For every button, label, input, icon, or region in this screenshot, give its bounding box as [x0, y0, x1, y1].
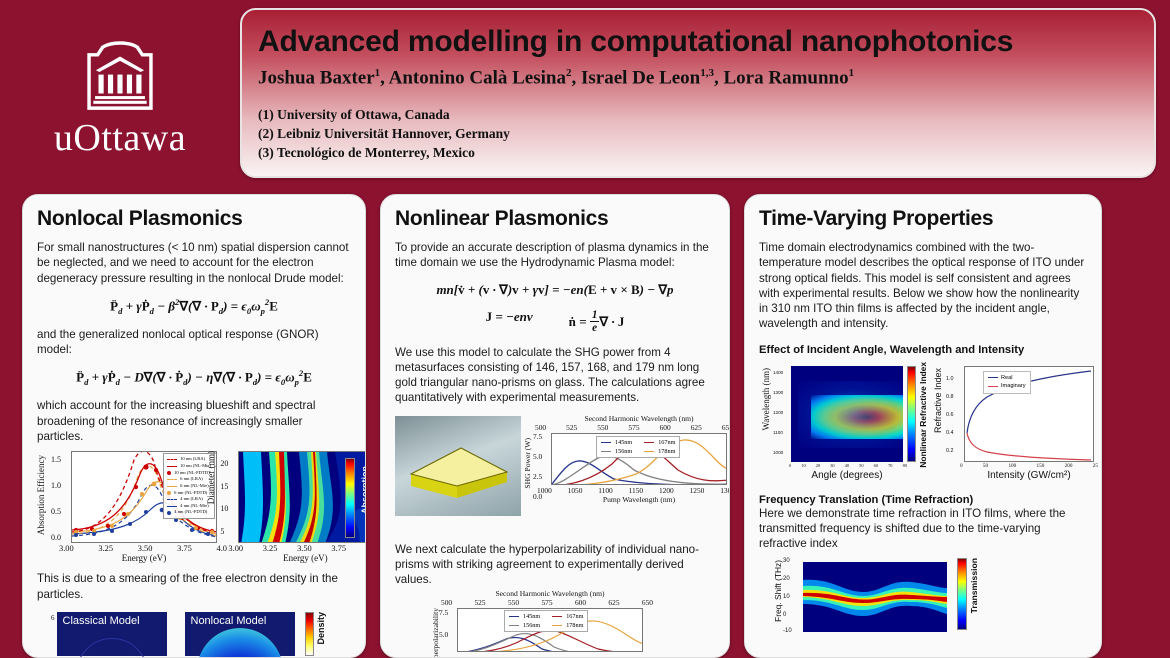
section-nonlinear-plasmonics: Nonlinear Plasmonics To provide an accur…: [380, 194, 730, 658]
xtick: 0: [789, 463, 791, 468]
page-title: Advanced modelling in computational nano…: [258, 26, 1134, 58]
xtick: 3.25: [98, 544, 113, 553]
chart5-xlabel: Angle (degrees): [785, 470, 909, 481]
xtick: 600: [660, 423, 671, 432]
nonlocal-model-label: Nonlocal Model: [191, 615, 267, 627]
xtick: 1150: [629, 486, 644, 495]
chart1-plot-area: 10 nm (LRA) 10 nm (NL-Mie) 10 nm (NL-FDT…: [71, 451, 217, 543]
affiliation-1: (1) University of Ottawa, Canada: [258, 105, 1134, 124]
xtick: 1300: [720, 486, 730, 495]
xtick: 10: [801, 463, 805, 468]
legend-item: Real: [988, 374, 1026, 382]
chart4-top-axis-label: Second Harmonic Wavelength (nm): [455, 589, 645, 598]
chart1-ytick-0.5: 0.5: [51, 507, 61, 516]
legend-item: 6 nm (NL-Mie): [167, 483, 211, 490]
current-continuity-equations: J = −env ṅ = 1e∇ · J: [395, 309, 715, 334]
legend-label: 4 nm (NL-Mie): [180, 503, 209, 510]
chart1-ytick-1.5: 1.5: [51, 455, 61, 464]
chart4-plot-area: 145nm 167nm 156nm 178nm: [457, 608, 643, 652]
author-2: , Antonino Calà Lesina: [380, 67, 566, 88]
col3-title: Time-Varying Properties: [759, 207, 1087, 231]
chart7-colorbar-label: Transmission: [969, 558, 979, 613]
xtick: 3.50: [297, 544, 312, 553]
col3-paragraph-1: Time domain electrodynamics combined wit…: [759, 240, 1087, 332]
xtick: 80: [903, 463, 907, 468]
xtick: 550: [508, 598, 519, 607]
chart7-plot-area: [803, 562, 947, 632]
col1-paragraph-1: For small nanostructures (< 10 nm) spati…: [37, 240, 351, 286]
legend-item: 178nm: [552, 622, 583, 629]
chart3-ytick-7.5: 7.5: [533, 432, 542, 441]
col1-paragraph-2: and the generalized nonlocal optical res…: [37, 327, 351, 358]
xtick: 50: [859, 463, 863, 468]
figure-ito-nonlinearity: Wavelength (nm) 1400 1300 1200 1100 1000…: [759, 362, 1087, 492]
legend-item: 4 nm (NL-FDTD): [167, 509, 211, 516]
affiliation-list: (1) University of Ottawa, Canada (2) Lei…: [258, 105, 1134, 162]
xtick: 40: [845, 463, 849, 468]
chart4-ytick-5.0: 5.0: [439, 630, 448, 639]
chart1-xlabel: Energy (eV): [71, 553, 217, 563]
chart2-xticks: 3.00 3.25 3.50 3.75 4.00: [228, 544, 366, 553]
chart5-plot-area: [791, 366, 903, 462]
chart-nonlinear-index-heatmap: Wavelength (nm) 1400 1300 1200 1100 1000…: [759, 362, 934, 492]
legend-label: 178nm: [658, 448, 675, 455]
chart4-top-ticks: 500 525 550 575 600 625 650: [441, 598, 653, 607]
xtick: 3.50: [138, 544, 153, 553]
xtick: 100: [1008, 463, 1016, 469]
legend-label: 4 nm (LRA): [180, 496, 203, 503]
figure-shg: Second Harmonic Wavelength (nm) 500 525 …: [395, 416, 715, 538]
chart3-plot-area: 145nm 167nm 156nm 178nm: [551, 433, 727, 485]
legend-item: 6 nm (LRA): [167, 476, 211, 483]
xtick: 70: [888, 463, 892, 468]
chart7-ylabel: Freq. Shift (THz): [773, 560, 783, 622]
chart1-ylabel: Absorption Efficiency: [36, 455, 46, 535]
continuity-equation: ṅ = 1e∇ · J: [569, 309, 625, 334]
chart6-ytick: 0.8: [946, 394, 954, 400]
chart5-ytick: 1200: [773, 410, 783, 415]
chart3-top-ticks: 500 525 550 575 600 625 650: [535, 423, 730, 432]
author-4: , Lora Ramunno: [714, 67, 849, 88]
legend-item: 167nm: [644, 439, 675, 446]
legend-item: 6 nm (NL-FDTD): [167, 490, 211, 497]
legend-label: 6 nm (NL-Mie): [180, 483, 209, 490]
chart-refractive-index-vs-intensity: Refractive Index 1.0 0.8 0.6 0.4 0.2 Rea…: [934, 362, 1087, 492]
legend-item: 156nm: [601, 448, 632, 455]
xtick: 625: [608, 598, 619, 607]
legend-label: 145nm: [615, 439, 632, 446]
chart7-ytick: 10: [783, 594, 790, 600]
author-3-affil: 1,3: [700, 67, 714, 79]
affiliation-3: (3) Tecnológico de Monterrey, Mexico: [258, 143, 1134, 162]
xtick: 3.25: [263, 544, 278, 553]
xtick: 600: [575, 598, 586, 607]
poster-columns: Nonlocal Plasmonics For small nanostruct…: [0, 186, 1170, 658]
legend-label: 167nm: [658, 439, 675, 446]
chart6-xlabel: Intensity (GW/cm²): [956, 470, 1102, 481]
xtick: 1050: [568, 486, 583, 495]
legend-item: Imaginary: [988, 382, 1026, 390]
chart4-ytick-7.5: 7.5: [439, 608, 448, 617]
xtick: 60: [874, 463, 878, 468]
author-1: Joshua Baxter: [258, 67, 375, 88]
figure-electron-density: 6 Classical Model Nonlocal Model Density: [37, 612, 351, 656]
xtick: 500: [441, 598, 452, 607]
section-time-varying-properties: Time-Varying Properties Time domain elec…: [744, 194, 1102, 658]
legend-item: 167nm: [552, 613, 583, 620]
xtick: 625: [691, 423, 702, 432]
chart6-plot-area: Real Imaginary: [964, 366, 1094, 462]
chart3-top-axis-label: Second Harmonic Wavelength (nm): [549, 414, 729, 423]
chart7-ytick: 20: [783, 576, 790, 582]
col1-paragraph-4: This is due to a smearing of the free el…: [37, 571, 351, 602]
chart2-ytick-20: 20: [220, 459, 228, 468]
legend-item: 156nm: [509, 622, 540, 629]
chart6-ytick: 0.6: [946, 412, 954, 418]
chart5-ytick: 1400: [773, 370, 783, 375]
xtick: 575: [541, 598, 552, 607]
xtick: 0: [960, 463, 963, 469]
chart1-xticks: 3.00 3.25 3.50 3.75 4.0: [59, 544, 227, 553]
author-list: Joshua Baxter1, Antonino Calà Lesina2, I…: [258, 67, 1134, 89]
section-nonlocal-plasmonics: Nonlocal Plasmonics For small nanostruct…: [22, 194, 366, 658]
density-colorbar-label: Density: [316, 612, 326, 645]
chart-shg-power-spectra: Second Harmonic Wavelength (nm) 500 525 …: [525, 416, 715, 538]
col2-paragraph-2: We use this model to calculate the SHG p…: [395, 345, 715, 406]
chart3-ylabel: SHG Power (W): [523, 438, 532, 489]
figure-absorption: Absorption Efficiency 1.5 1.0 0.5 0.0: [37, 447, 351, 565]
legend-item: 4 nm (LRA): [167, 496, 211, 503]
chart-hyperpolarizability-spectra: Second Harmonic Wavelength (nm) 500 525 …: [395, 590, 715, 650]
xtick: 50: [983, 463, 988, 469]
xtick: 525: [474, 598, 485, 607]
xtick: 500: [535, 423, 546, 432]
xtick: 1100: [598, 486, 613, 495]
chart6-ylabel: Refractive Index: [933, 368, 943, 433]
col1-title: Nonlocal Plasmonics: [37, 207, 351, 231]
legend-item: 10 nm (NL-Mie): [167, 463, 211, 470]
legend-label: 10 nm (LRA): [180, 456, 205, 463]
xtick: 650: [722, 423, 730, 432]
xtick: 25: [1093, 463, 1098, 469]
affiliation-2: (2) Leibniz Universität Hannover, German…: [258, 124, 1134, 143]
chart3-ytick-5.0: 5.0: [533, 452, 542, 461]
chart5-xticks: 0 10 20 30 40 50 60 70 80: [789, 463, 907, 468]
chart5-ytick: 1100: [773, 430, 783, 435]
density-colorbar: [305, 612, 314, 656]
chart-absorption-vs-diameter-heatmap: Diameter (nm) 20 15 10 5: [210, 447, 351, 565]
xtick: 1200: [659, 486, 674, 495]
nonlocal-model-map: Nonlocal Model: [185, 612, 295, 656]
chart7-ytick: -10: [783, 628, 792, 634]
chart2-xlabel: Energy (eV): [238, 553, 366, 563]
legend-label: 4 nm (NL-FDTD): [174, 509, 207, 516]
xtick: 20: [816, 463, 820, 468]
legend-item: 10 nm (NL-FDTD): [167, 470, 211, 477]
xtick: 3.75: [177, 544, 192, 553]
xtick: 1250: [690, 486, 705, 495]
legend-label: Imaginary: [1001, 382, 1026, 390]
legend-item: 145nm: [601, 439, 632, 446]
chart3-ytick-2.5: 2.5: [533, 472, 542, 481]
chart3-xlabel: Pump Wavelength (nm): [551, 495, 727, 504]
legend-item: 178nm: [644, 448, 675, 455]
chart5-ytick: 1300: [773, 390, 783, 395]
legend-label: 6 nm (LRA): [180, 476, 203, 483]
xtick: 550: [597, 423, 608, 432]
chart2-ytick-10: 10: [220, 504, 228, 513]
chart2-ytick-15: 15: [220, 482, 228, 491]
uottawa-logo: uOttawa: [0, 0, 240, 186]
xtick: 3.00: [59, 544, 74, 553]
xtick: 30: [830, 463, 834, 468]
chart3-xticks: 1000 1050 1100 1150 1200 1250 1300: [537, 486, 730, 495]
author-3: , Israel De Leon: [571, 67, 700, 88]
col2-paragraph-1: To provide an accurate description of pl…: [395, 240, 715, 271]
chart2-colorbar-label: Absorption: [360, 466, 366, 514]
xtick: 525: [566, 423, 577, 432]
chart5-ytick: 1000: [773, 450, 783, 455]
university-crest-icon: [77, 29, 163, 115]
legend-item: 10 nm (LRA): [167, 456, 211, 463]
current-density-equation: J = −env: [486, 309, 533, 334]
xtick: 3.00: [228, 544, 243, 553]
legend-item: 145nm: [509, 613, 540, 620]
chart6-ytick: 0.4: [946, 430, 954, 436]
chart2-ytick-5: 5: [220, 527, 224, 536]
legend-label: 6 nm (NL-FDTD): [174, 490, 207, 497]
chart7-ytick: 0: [783, 612, 786, 618]
legend-label: 156nm: [615, 448, 632, 455]
chart5-colorbar-label: Nonlinear Refractive Index: [918, 362, 928, 468]
legend-label: Real: [1001, 374, 1013, 382]
xtick: 150: [1037, 463, 1045, 469]
chart3-legend: 145nm 167nm 156nm 178nm: [596, 436, 680, 458]
xtick: 3.75: [331, 544, 346, 553]
legend-item: 4 nm (NL-Mie): [167, 503, 211, 510]
chart2-plot-area: Absorption: [238, 451, 366, 543]
chart2-ylabel: Diameter (nm): [206, 451, 216, 504]
xtick: 650: [642, 598, 653, 607]
chart2-colorbar: [345, 458, 355, 538]
xtick: 200: [1065, 463, 1073, 469]
col2-title: Nonlinear Plasmonics: [395, 207, 715, 231]
chart1-ytick-0.0: 0.0: [51, 533, 61, 542]
col2-paragraph-3: We next calculate the hyperpolarizabilit…: [395, 542, 715, 588]
col3-paragraph-2: Here we demonstrate time refraction in I…: [759, 506, 1087, 552]
author-4-affil: 1: [849, 67, 855, 79]
chart1-ytick-1.0: 1.0: [51, 481, 61, 490]
chart6-xticks: 0 50 100 150 200 25: [960, 463, 1098, 469]
chart-absorption-efficiency-spectra: Absorption Efficiency 1.5 1.0 0.5 0.0: [37, 447, 210, 565]
legend-label: 156nm: [523, 622, 540, 629]
legend-label: 145nm: [523, 613, 540, 620]
chart7-ytick: 30: [783, 558, 790, 564]
chart6-ytick: 0.2: [946, 448, 954, 454]
chart6-legend: Real Imaginary: [983, 371, 1031, 394]
legend-label: 167nm: [566, 613, 583, 620]
xtick: 1000: [537, 486, 552, 495]
col3-heading-1: Effect of Incident Angle, Wavelength and…: [759, 344, 1087, 356]
nonlocal-drude-equation: P̈d + γṖd − β2∇(∇ · Pd) = ϵ0ωp2E: [37, 297, 351, 316]
chart4-legend: 145nm 167nm 156nm 178nm: [504, 610, 588, 632]
gold-nanoprism-render: [395, 416, 521, 516]
chart5-colorbar: [907, 366, 916, 462]
gnor-equation: P̈d + γṖd − D∇(∇ · Ṗd) − η∇(∇ · Pd) = ϵ0…: [37, 368, 351, 387]
classical-model-label: Classical Model: [63, 615, 140, 627]
chart7-colorbar: [957, 558, 967, 630]
col1-paragraph-3: which account for the increasing blueshi…: [37, 398, 351, 444]
poster-header: uOttawa Advanced modelling in computatio…: [0, 0, 1170, 186]
chart-time-refraction-heatmap: Freq. Shift (THz) 30 20 10 0 -10 Transmi…: [759, 558, 1087, 628]
chart5-ylabel: Wavelength (nm): [761, 368, 771, 431]
logo-wordmark: uOttawa: [54, 119, 186, 157]
classical-model-map: Classical Model: [57, 612, 167, 656]
title-card: Advanced modelling in computational nano…: [240, 8, 1156, 178]
legend-label: 10 nm (NL-FDTD): [174, 470, 209, 477]
col3-heading-2: Frequency Translation (Time Refraction): [759, 494, 1087, 506]
hydrodynamic-plasma-equation: mn[v̇ + (v · ∇)v + γv] = −en(E + v × B) …: [395, 282, 715, 298]
xtick: 575: [628, 423, 639, 432]
chart6-ytick: 1.0: [946, 376, 954, 382]
legend-label: 178nm: [566, 622, 583, 629]
